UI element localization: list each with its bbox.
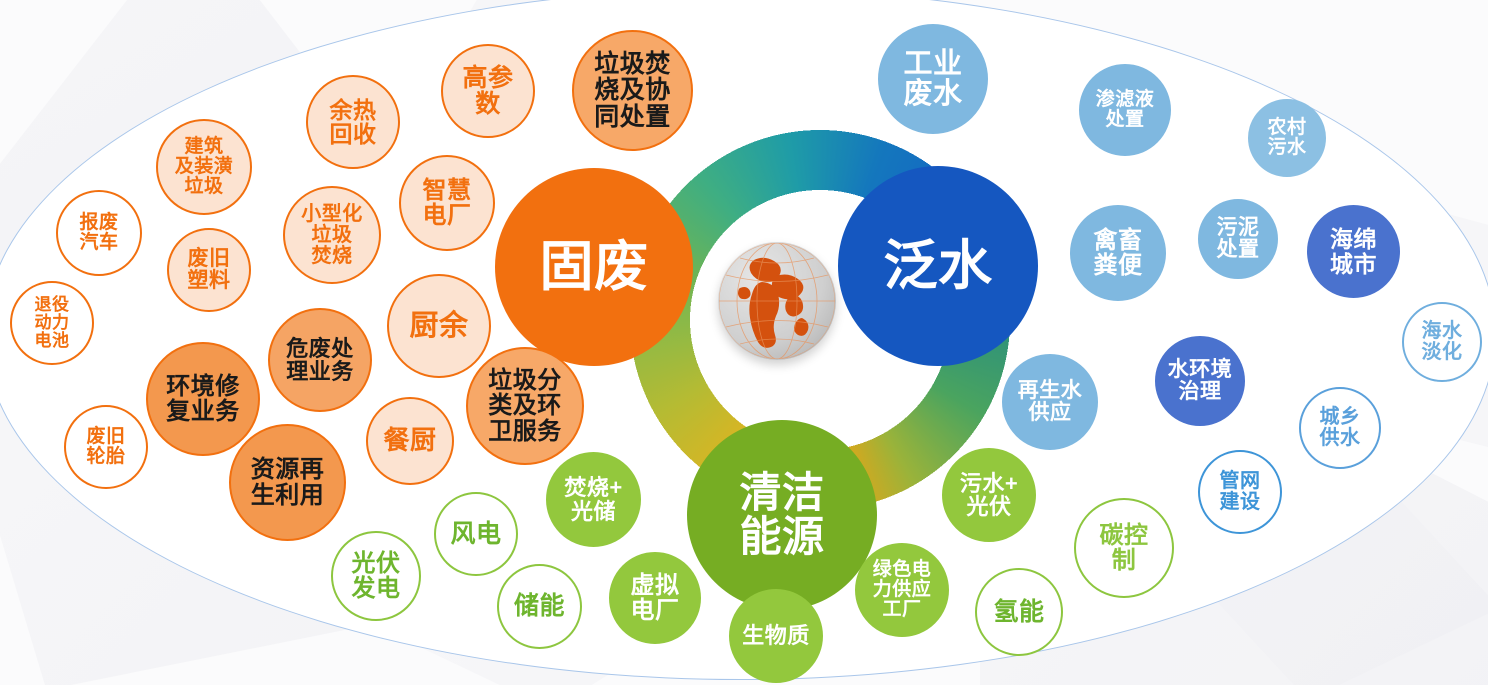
solid-waste-bubble-3[interactable]: 建筑 及装潢 垃圾 (156, 119, 252, 215)
solid-waste-bubble-4[interactable]: 废旧 塑料 (167, 228, 251, 312)
water-bubble-5[interactable]: 海绵 城市 (1307, 205, 1400, 298)
energy-bubble-2[interactable]: 光伏 发电 (331, 531, 421, 621)
solid-waste-bubble-0[interactable]: 报废 汽车 (56, 190, 142, 276)
water-bubble-4[interactable]: 污泥 处置 (1198, 199, 1278, 279)
energy-bubble-0[interactable]: 焚烧+ 光储 (546, 452, 641, 547)
water-bubble-7[interactable]: 再生水 供应 (1002, 354, 1098, 450)
hub-clean-energy[interactable]: 清洁 能源 (687, 420, 877, 610)
water-bubble-0[interactable]: 工业 废水 (878, 24, 988, 134)
solid-waste-bubble-14[interactable]: 资源再 生利用 (229, 424, 346, 541)
water-bubble-3[interactable]: 禽畜 粪便 (1070, 205, 1166, 301)
energy-bubble-7[interactable]: 污水+ 光伏 (942, 448, 1036, 542)
energy-bubble-4[interactable]: 虚拟 电厂 (609, 552, 701, 644)
energy-bubble-9[interactable]: 碳控 制 (1074, 498, 1174, 598)
solid-waste-bubble-9[interactable]: 垃圾焚 烧及协 同处置 (572, 30, 693, 151)
solid-waste-bubble-8[interactable]: 智慧 电厂 (399, 155, 495, 251)
water-bubble-2[interactable]: 农村 污水 (1248, 99, 1326, 177)
energy-bubble-5[interactable]: 生物质 (729, 589, 823, 683)
water-bubble-6[interactable]: 海水 淡化 (1402, 302, 1482, 382)
energy-bubble-3[interactable]: 储能 (497, 564, 582, 649)
solid-waste-bubble-7[interactable]: 小型化 垃圾 焚烧 (283, 186, 381, 284)
infographic-canvas: 固废泛水清洁 能源报废 汽车退役 动力 电池废旧 轮胎建筑 及装潢 垃圾废旧 塑… (0, 0, 1488, 685)
water-bubble-10[interactable]: 管网 建设 (1198, 450, 1282, 534)
solid-waste-bubble-13[interactable]: 环境修 复业务 (146, 342, 260, 456)
solid-waste-bubble-6[interactable]: 高参 数 (441, 44, 535, 138)
solid-waste-bubble-5[interactable]: 余热 回收 (306, 75, 400, 169)
water-bubble-1[interactable]: 渗滤液 处置 (1079, 64, 1171, 156)
solid-waste-bubble-15[interactable]: 垃圾分 类及环 卫服务 (466, 347, 584, 465)
earth-globe-icon (718, 242, 836, 360)
solid-waste-bubble-12[interactable]: 餐厨 (366, 397, 454, 485)
hub-solid-waste[interactable]: 固废 (495, 168, 693, 366)
energy-bubble-1[interactable]: 风电 (434, 492, 518, 576)
water-bubble-8[interactable]: 水环境 治理 (1155, 336, 1245, 426)
solid-waste-bubble-11[interactable]: 危废处 理业务 (268, 308, 372, 412)
energy-bubble-8[interactable]: 氢能 (975, 568, 1063, 656)
hub-water[interactable]: 泛水 (838, 166, 1038, 366)
energy-bubble-6[interactable]: 绿色电 力供应 工厂 (855, 543, 949, 637)
solid-waste-bubble-1[interactable]: 退役 动力 电池 (10, 281, 94, 365)
solid-waste-bubble-10[interactable]: 厨余 (387, 274, 491, 378)
solid-waste-bubble-2[interactable]: 废旧 轮胎 (64, 405, 148, 489)
water-bubble-9[interactable]: 城乡 供水 (1299, 387, 1381, 469)
